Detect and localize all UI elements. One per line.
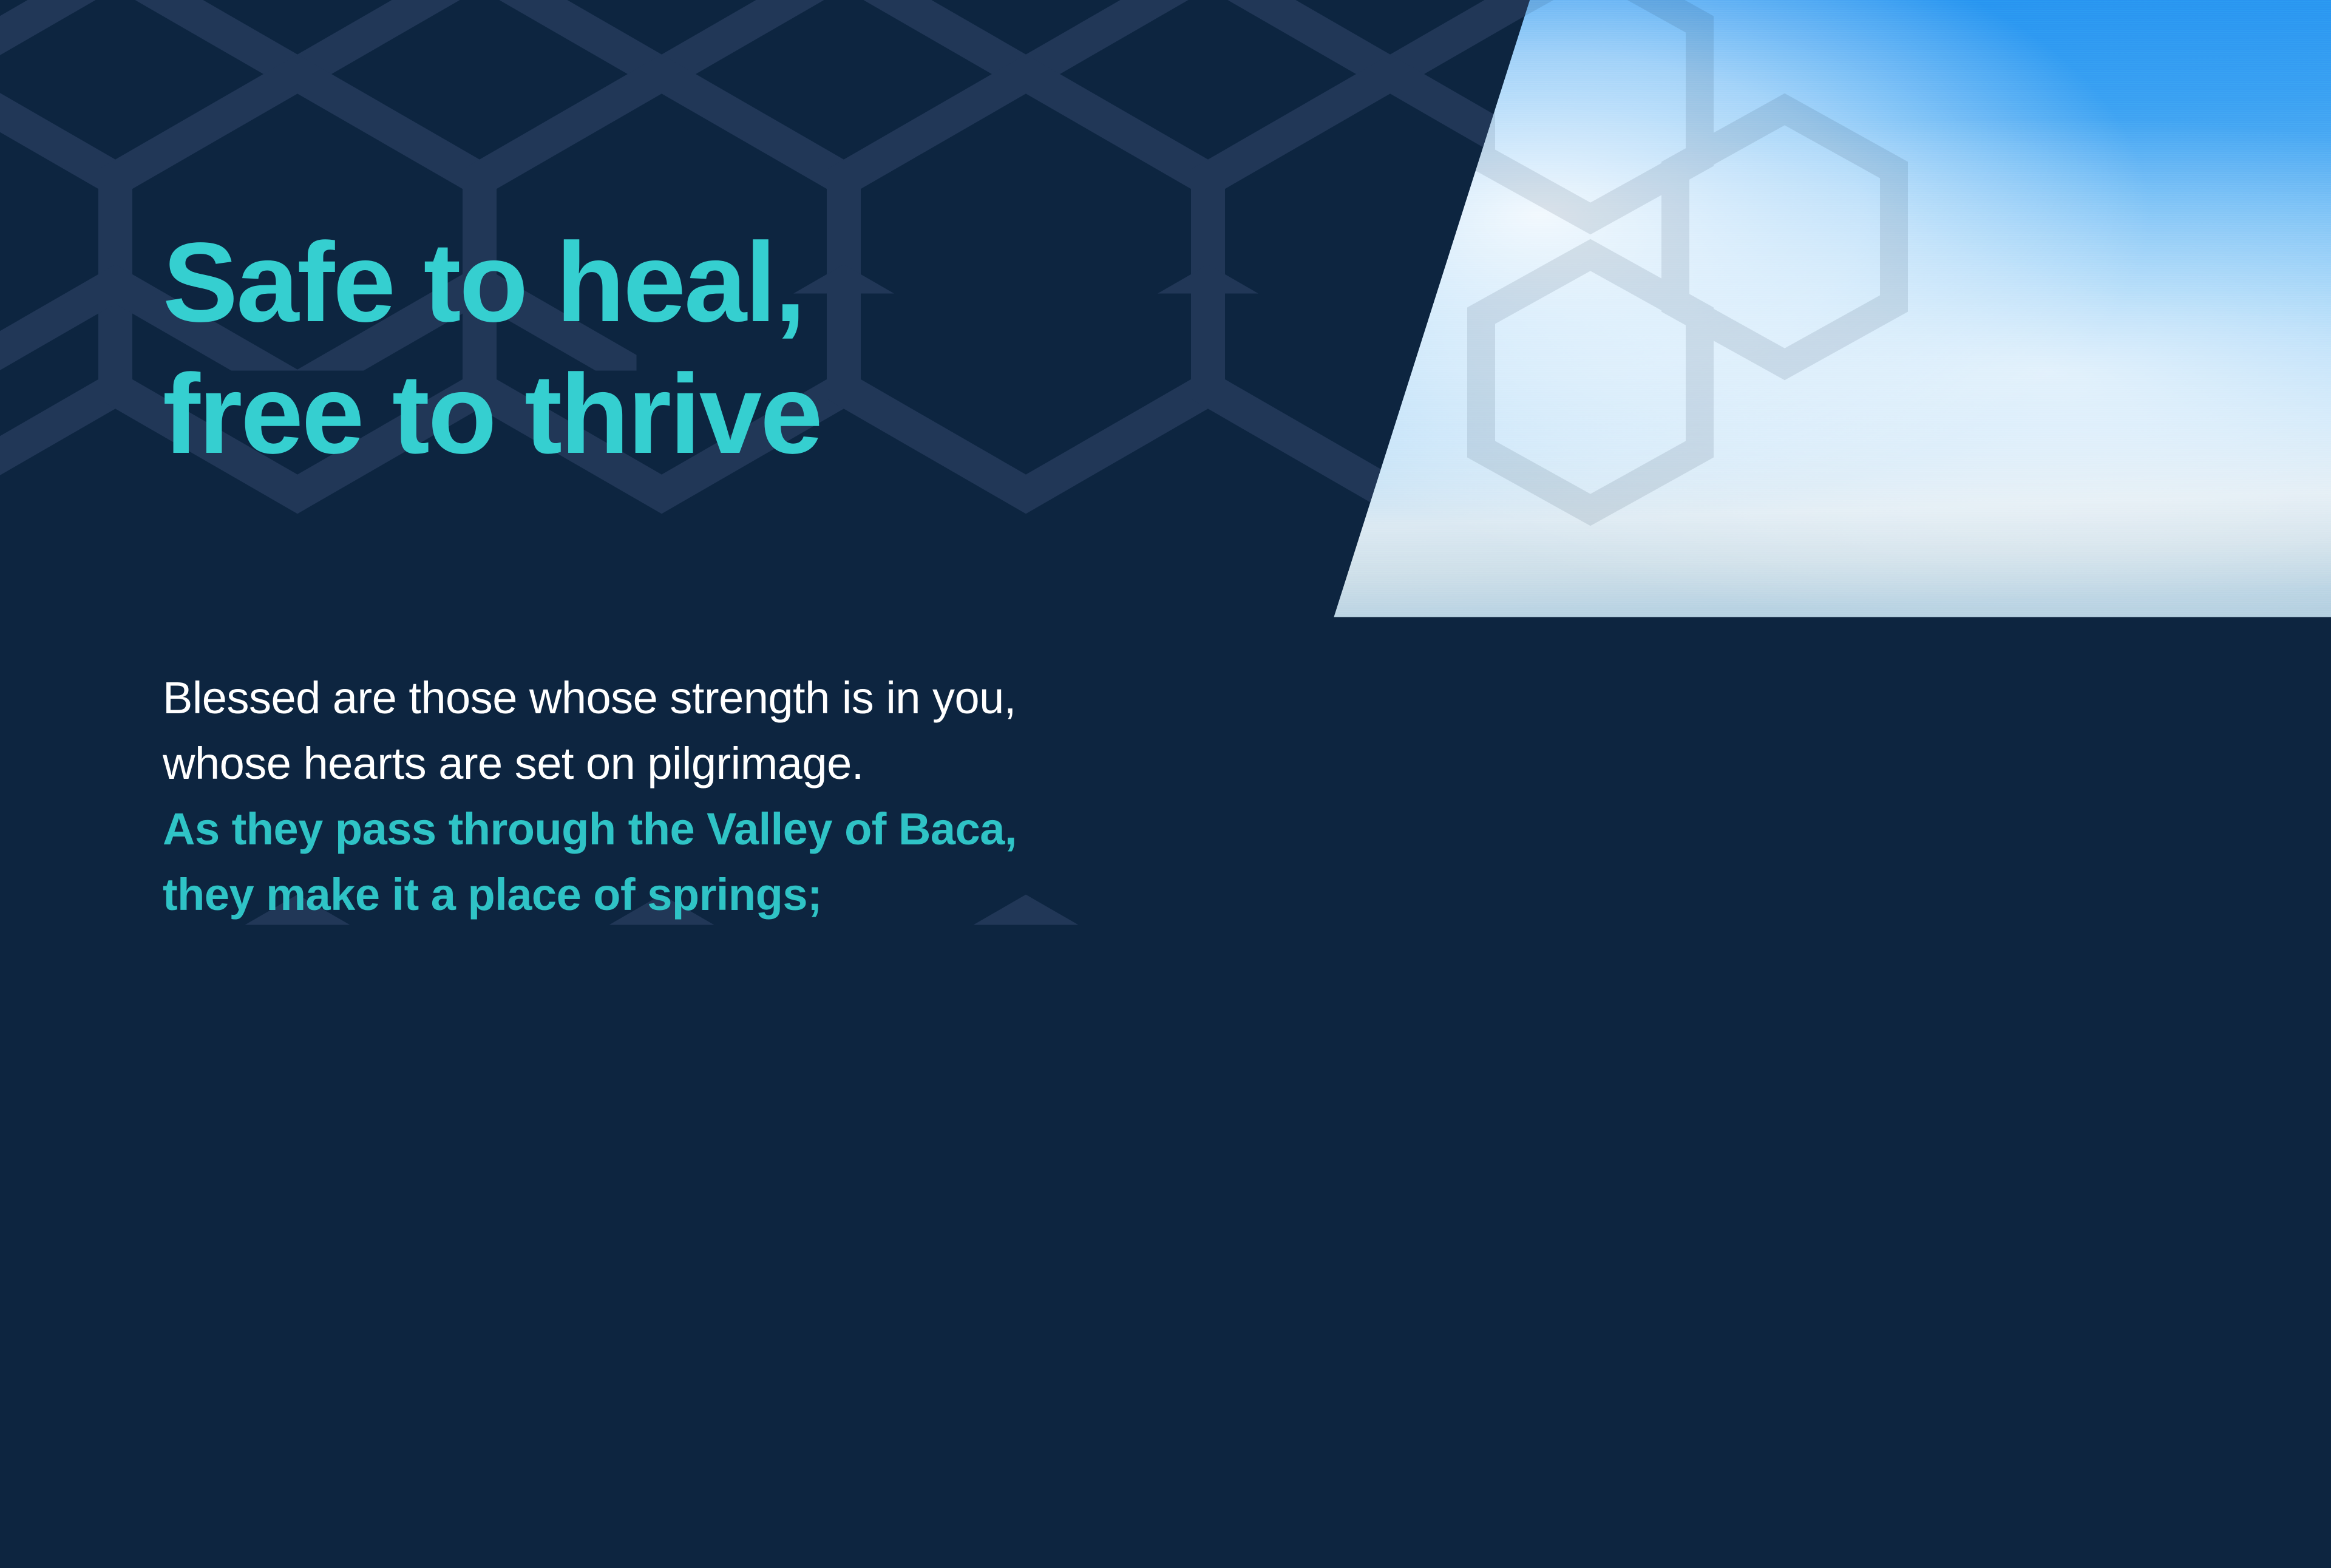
logo-dot-large-icon [231, 1378, 302, 1450]
sky-pattern-ghost-icon [1445, 0, 1991, 656]
verse-line-1: Blessed are those whose strength is in y… [163, 665, 1017, 731]
verse-line-5: the autumn rains also cover it with pool… [163, 928, 1017, 993]
verse-line-3: As they pass through the Valley of Baca, [163, 796, 1017, 862]
verse-line-7: till each appears before God in Zion. [163, 1059, 1017, 1124]
page-title: Safe to heal, free to thrive [163, 217, 821, 481]
verse-line-4: they make it a place of springs; [163, 862, 1017, 928]
verse-citation: PSALM 84:5-7 [163, 1243, 459, 1289]
verse-line-6: They go from strength to strength, [163, 993, 1017, 1059]
headline-line-1: Safe to heal, [163, 217, 821, 349]
headline-line-2: free to thrive [163, 348, 821, 481]
promo-card: Safety Healing Freedom [0, 0, 2331, 1568]
scripture-verse: Blessed are those whose strength is in y… [163, 665, 1017, 1124]
verse-line-2: whose hearts are set on pilgrimage. [163, 731, 1017, 796]
logo-dot-medium-icon [206, 1484, 238, 1516]
